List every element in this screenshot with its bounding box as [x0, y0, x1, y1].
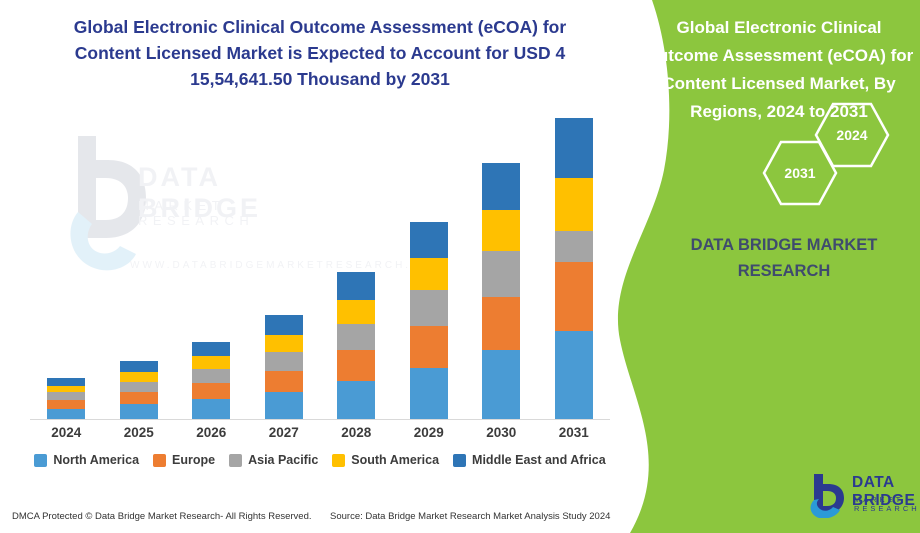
- bar-segment: [337, 300, 375, 324]
- banner-brand: DATA BRIDGE MARKET RESEARCH: [648, 232, 920, 284]
- footer-copyright: DMCA Protected © Data Bridge Market Rese…: [12, 511, 312, 522]
- bar-segment: [47, 400, 85, 409]
- bar-segment: [555, 262, 593, 331]
- bar-slot: [320, 110, 393, 419]
- bar-segment: [555, 231, 593, 262]
- legend-item[interactable]: North America: [34, 453, 139, 467]
- dbmr-logo: DATA BRIDGE MARKET RESEARCH: [808, 470, 920, 522]
- legend-item[interactable]: Middle East and Africa: [453, 453, 606, 467]
- bar-segment: [47, 386, 85, 393]
- x-axis-label: 2029: [393, 425, 466, 440]
- legend-item[interactable]: Europe: [153, 453, 215, 467]
- dbmr-logo-icon: [808, 470, 852, 518]
- legend-label: Asia Pacific: [248, 453, 318, 467]
- bar-segment: [337, 272, 375, 299]
- bar-segment: [192, 369, 230, 383]
- bar-segment: [120, 392, 158, 404]
- legend-label: Middle East and Africa: [472, 453, 606, 467]
- bar-segment: [410, 222, 448, 258]
- bar-segment: [482, 350, 520, 419]
- stacked-bar[interactable]: [555, 118, 593, 419]
- bar-segment: [192, 399, 230, 419]
- stacked-bar[interactable]: [337, 272, 375, 419]
- bar-slot: [103, 110, 176, 419]
- stacked-bar[interactable]: [120, 361, 158, 419]
- bar-segment: [265, 352, 303, 371]
- legend-item[interactable]: South America: [332, 453, 439, 467]
- bar-segment: [265, 371, 303, 392]
- x-axis-label: 2025: [103, 425, 176, 440]
- stacked-bar[interactable]: [482, 163, 520, 419]
- bar-slot: [538, 110, 611, 419]
- x-axis-label: 2026: [175, 425, 248, 440]
- bar-segment: [555, 118, 593, 178]
- x-axis-label: 2024: [30, 425, 103, 440]
- stacked-bar[interactable]: [192, 342, 230, 419]
- bar-slot: [248, 110, 321, 419]
- hex-badge-2024-label: 2024: [814, 127, 890, 143]
- bar-segment: [47, 392, 85, 400]
- bar-segment: [337, 381, 375, 419]
- bar-slot: [30, 110, 103, 419]
- x-axis-labels: 20242025202620272028202920302031: [30, 425, 610, 440]
- chart-panel: Global Electronic Clinical Outcome Asses…: [0, 0, 640, 533]
- x-axis-label: 2030: [465, 425, 538, 440]
- bar-segment: [482, 210, 520, 251]
- footer-source: Source: Data Bridge Market Research Mark…: [330, 511, 610, 522]
- x-axis-label: 2031: [538, 425, 611, 440]
- legend: North AmericaEuropeAsia PacificSouth Ame…: [20, 453, 620, 467]
- bar-segment: [265, 315, 303, 335]
- bar-segment: [120, 361, 158, 372]
- legend-label: South America: [351, 453, 439, 467]
- bar-segment: [482, 251, 520, 297]
- bar-segment: [555, 178, 593, 231]
- legend-label: North America: [53, 453, 139, 467]
- legend-item[interactable]: Asia Pacific: [229, 453, 318, 467]
- legend-swatch: [332, 454, 345, 467]
- x-axis-label: 2027: [248, 425, 321, 440]
- bar-segment: [192, 356, 230, 369]
- legend-swatch: [453, 454, 466, 467]
- bar-segment: [410, 258, 448, 291]
- hex-badge-group: 2031 2024: [762, 112, 920, 212]
- bar-slot: [175, 110, 248, 419]
- bar-group: [30, 110, 610, 419]
- bar-segment: [47, 378, 85, 386]
- bar-segment: [337, 350, 375, 381]
- bar-segment: [410, 290, 448, 326]
- bar-segment: [265, 392, 303, 419]
- dbmr-logo-sub: MARKET RESEARCH: [854, 495, 920, 513]
- bar-segment: [192, 342, 230, 357]
- bar-segment: [555, 331, 593, 419]
- side-banner: Global Electronic Clinical Outcome Asses…: [612, 0, 920, 533]
- bar-segment: [482, 297, 520, 350]
- legend-swatch: [34, 454, 47, 467]
- bar-segment: [192, 383, 230, 399]
- bar-segment: [410, 326, 448, 367]
- bar-slot: [465, 110, 538, 419]
- plot-area: [30, 110, 610, 420]
- stacked-bar[interactable]: [410, 222, 448, 419]
- bar-segment: [265, 335, 303, 352]
- stacked-bar[interactable]: [265, 315, 303, 419]
- footer: DMCA Protected © Data Bridge Market Rese…: [0, 505, 640, 533]
- bar-segment: [337, 324, 375, 351]
- bar-segment: [120, 404, 158, 419]
- x-axis-line: [30, 419, 610, 420]
- bar-segment: [482, 163, 520, 209]
- bar-segment: [120, 382, 158, 392]
- bar-segment: [410, 368, 448, 420]
- chart-title: Global Electronic Clinical Outcome Asses…: [40, 14, 600, 92]
- legend-swatch: [229, 454, 242, 467]
- stacked-bar[interactable]: [47, 378, 85, 419]
- legend-label: Europe: [172, 453, 215, 467]
- bar-segment: [47, 409, 85, 419]
- x-axis-label: 2028: [320, 425, 393, 440]
- bar-slot: [393, 110, 466, 419]
- bar-segment: [120, 372, 158, 382]
- legend-swatch: [153, 454, 166, 467]
